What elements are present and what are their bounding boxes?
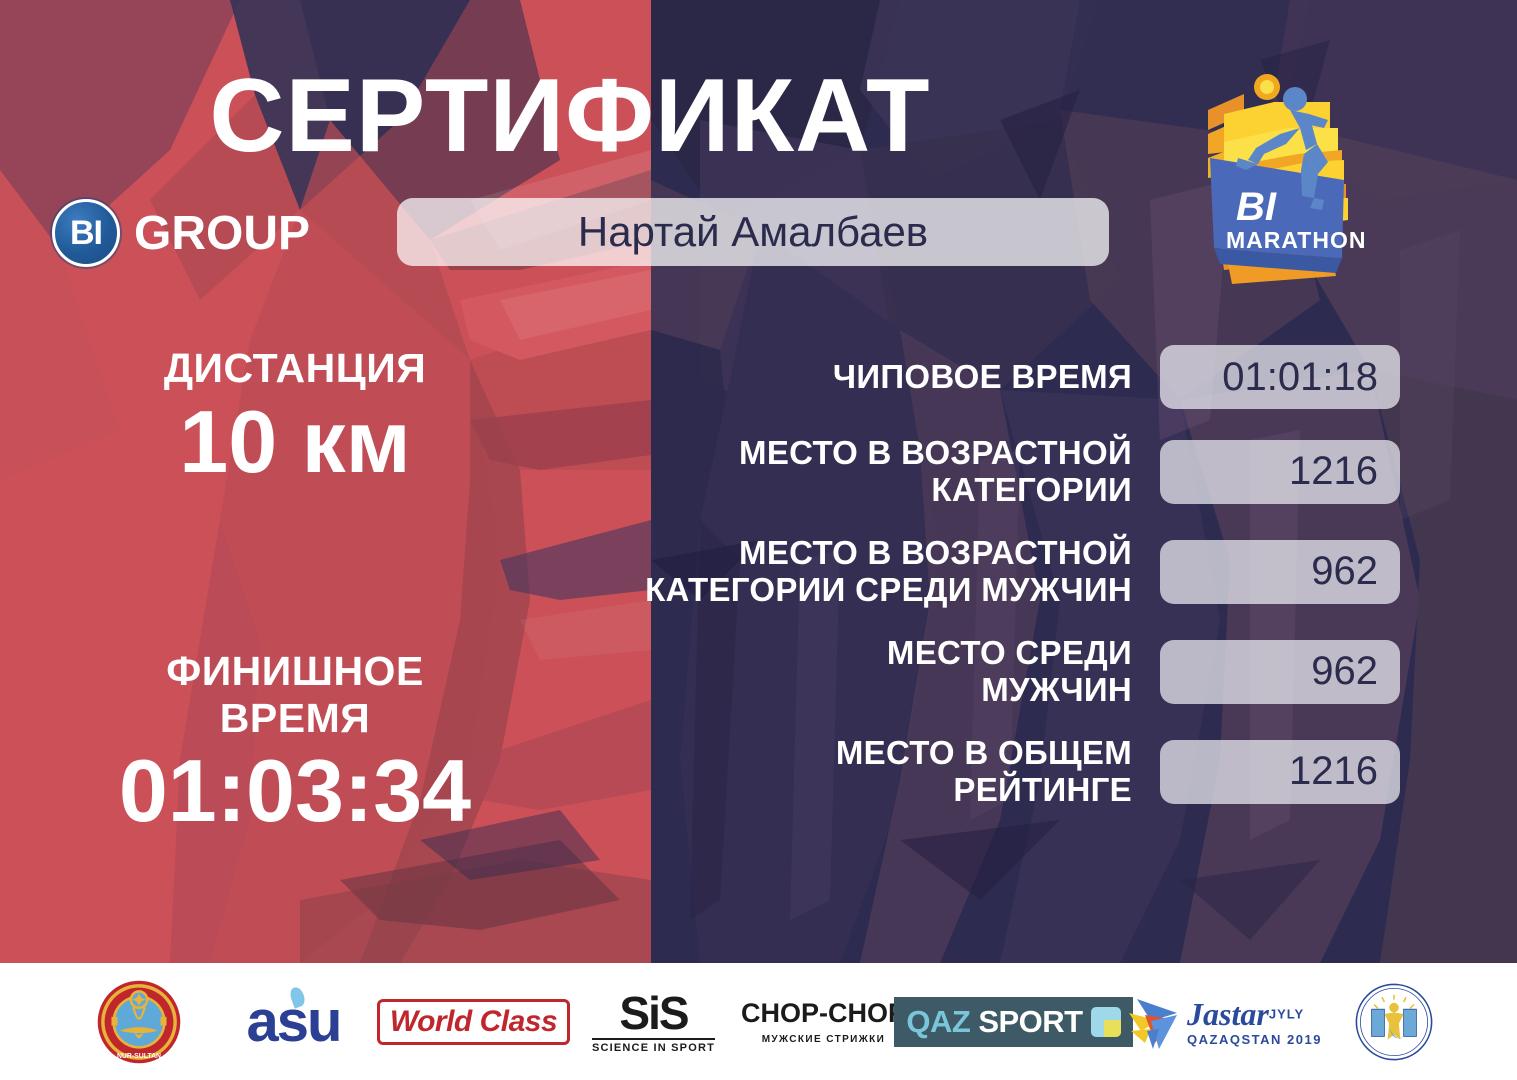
bi-mark-text: BI <box>70 214 102 253</box>
stat-row-age-category-men-place: МЕСТО В ВОЗРАСТНОЙ КАТЕГОРИИ СРЕДИ МУЖЧИ… <box>600 535 1400 609</box>
age-category-place-label-line2: КАТЕГОРИИ <box>600 472 1132 509</box>
jastar-main-text: Jastar <box>1187 996 1269 1032</box>
overall-place-label-line2: РЕЙТИНГЕ <box>600 772 1132 809</box>
chip-time-value: 01:01:18 <box>1222 355 1378 400</box>
sponsor-ministry <box>1334 972 1454 1072</box>
overall-place-label: МЕСТО В ОБЩЕМ РЕЙТИНГЕ <box>600 735 1160 809</box>
jastar-sub-text: QAZAQSTAN 2019 <box>1187 1033 1322 1046</box>
finish-time-label-line2: ВРЕМЯ <box>0 695 590 742</box>
sponsor-qazsport: QAZ SPORT <box>914 972 1114 1072</box>
chop-chop-main-text: CHOP-CHOP <box>741 998 906 1029</box>
jastar-text-wrap: JastarJYLY QAZAQSTAN 2019 <box>1187 998 1322 1046</box>
age-category-place-value: 1216 <box>1289 449 1378 494</box>
sponsor-bar: NUR-SULTAN asu World Class SiS SCIENCE I… <box>0 963 1517 1080</box>
world-class-text: World Class <box>390 1005 557 1039</box>
ministry-emblem-icon <box>1354 982 1434 1062</box>
stat-row-men-place: МЕСТО СРЕДИ МУЖЧИН 962 <box>600 635 1400 709</box>
bi-group-logo: BI GROUP <box>52 199 310 267</box>
distance-value: 10 км <box>0 396 590 488</box>
left-stat-finish-time: ФИНИШНОЕ ВРЕМЯ 01:03:34 <box>0 648 590 838</box>
age-category-men-place-label-line2: КАТЕГОРИИ СРЕДИ МУЖЧИН <box>600 572 1132 609</box>
stat-row-chip-time: ЧИПОВОЕ ВРЕМЯ 01:01:18 <box>600 345 1400 409</box>
sponsor-world-class: World Class <box>374 972 574 1072</box>
sis-sub-text: SCIENCE IN SPORT <box>592 1038 715 1054</box>
sponsor-chop-chop: CHOP-CHOP МУЖСКИЕ СТРИЖКИ <box>734 972 914 1072</box>
age-category-place-label-line1: МЕСТО В ВОЗРАСТНОЙ <box>600 435 1132 472</box>
age-category-men-place-pill: 962 <box>1160 540 1400 604</box>
men-place-pill: 962 <box>1160 640 1400 704</box>
stat-row-overall-place: МЕСТО В ОБЩЕМ РЕЙТИНГЕ 1216 <box>600 735 1400 809</box>
bi-group-word: GROUP <box>134 206 310 261</box>
sis-main-text: SiS <box>592 990 715 1036</box>
nur-sultan-emblem-icon: NUR-SULTAN <box>96 979 182 1065</box>
chop-chop-sub-text: МУЖСКИЕ СТРИЖКИ <box>741 1034 906 1045</box>
finish-time-label-line1: ФИНИШНОЕ <box>0 648 590 695</box>
age-category-place-pill: 1216 <box>1160 440 1400 504</box>
age-category-place-label: МЕСТО В ВОЗРАСТНОЙ КАТЕГОРИИ <box>600 435 1160 509</box>
finish-time-value: 01:03:34 <box>0 745 590 837</box>
chip-time-label-line1: ЧИПОВОЕ ВРЕМЯ <box>600 359 1132 396</box>
sponsor-nur-sultan: NUR-SULTAN <box>64 972 214 1072</box>
age-category-men-place-label: МЕСТО В ВОЗРАСТНОЙ КАТЕГОРИИ СРЕДИ МУЖЧИ… <box>600 535 1160 609</box>
chop-chop-logo-wrap: CHOP-CHOP МУЖСКИЕ СТРИЖКИ <box>741 998 906 1045</box>
sponsor-jastar-jyly: JastarJYLY QAZAQSTAN 2019 <box>1114 972 1334 1072</box>
jastar-arrow-icon <box>1125 991 1183 1053</box>
nur-sultan-text: NUR-SULTAN <box>116 1053 160 1060</box>
marathon-bi-text: BI <box>1236 185 1277 229</box>
participant-name: Нартай Амалбаев <box>578 208 928 256</box>
qazsport-box: QAZ SPORT <box>894 997 1132 1047</box>
right-stats-list: ЧИПОВОЕ ВРЕМЯ 01:01:18 МЕСТО В ВОЗРАСТНО… <box>600 345 1400 827</box>
men-place-label-line1: МЕСТО СРЕДИ <box>600 635 1132 672</box>
men-place-label-line2: МУЖЧИН <box>600 672 1132 709</box>
world-class-box: World Class <box>377 999 570 1045</box>
jastar-logo-wrap: JastarJYLY QAZAQSTAN 2019 <box>1125 991 1322 1053</box>
chip-time-label: ЧИПОВОЕ ВРЕМЯ <box>600 359 1160 396</box>
certificate-title: СЕРТИФИКАТ <box>0 62 1140 171</box>
sis-logo-wrap: SiS SCIENCE IN SPORT <box>592 990 715 1054</box>
qazsport-text-sport: SPORT <box>978 1004 1082 1040</box>
age-category-men-place-value: 962 <box>1311 549 1378 594</box>
men-place-value: 962 <box>1311 649 1378 694</box>
overall-place-label-line1: МЕСТО В ОБЩЕМ <box>600 735 1132 772</box>
bi-marathon-logo: BI MARATHON <box>1178 58 1378 303</box>
overall-place-pill: 1216 <box>1160 740 1400 804</box>
stat-row-age-category-place: МЕСТО В ВОЗРАСТНОЙ КАТЕГОРИИ 1216 <box>600 435 1400 509</box>
jastar-jyly-text: JYLY <box>1269 1006 1304 1021</box>
certificate-root: СЕРТИФИКАТ Нартай Амалбаев BI GROUP <box>0 0 1517 1080</box>
men-place-label: МЕСТО СРЕДИ МУЖЧИН <box>600 635 1160 709</box>
chip-time-pill: 01:01:18 <box>1160 345 1400 409</box>
distance-label: ДИСТАНЦИЯ <box>0 345 590 392</box>
qazsport-text-qaz: QAZ <box>906 1004 970 1040</box>
asu-logo-wrap: asu <box>247 993 341 1051</box>
sponsor-sis: SiS SCIENCE IN SPORT <box>574 972 734 1072</box>
sponsor-asu: asu <box>214 972 374 1072</box>
participant-name-pill: Нартай Амалбаев <box>397 198 1109 266</box>
age-category-men-place-label-line1: МЕСТО В ВОЗРАСТНОЙ <box>600 535 1132 572</box>
bi-circle-icon: BI <box>52 199 120 267</box>
left-stat-distance: ДИСТАНЦИЯ 10 км <box>0 345 590 488</box>
overall-place-value: 1216 <box>1289 749 1378 794</box>
marathon-word-text: MARATHON <box>1226 227 1366 253</box>
bi-marathon-emblem-icon: BI MARATHON <box>1178 58 1378 303</box>
